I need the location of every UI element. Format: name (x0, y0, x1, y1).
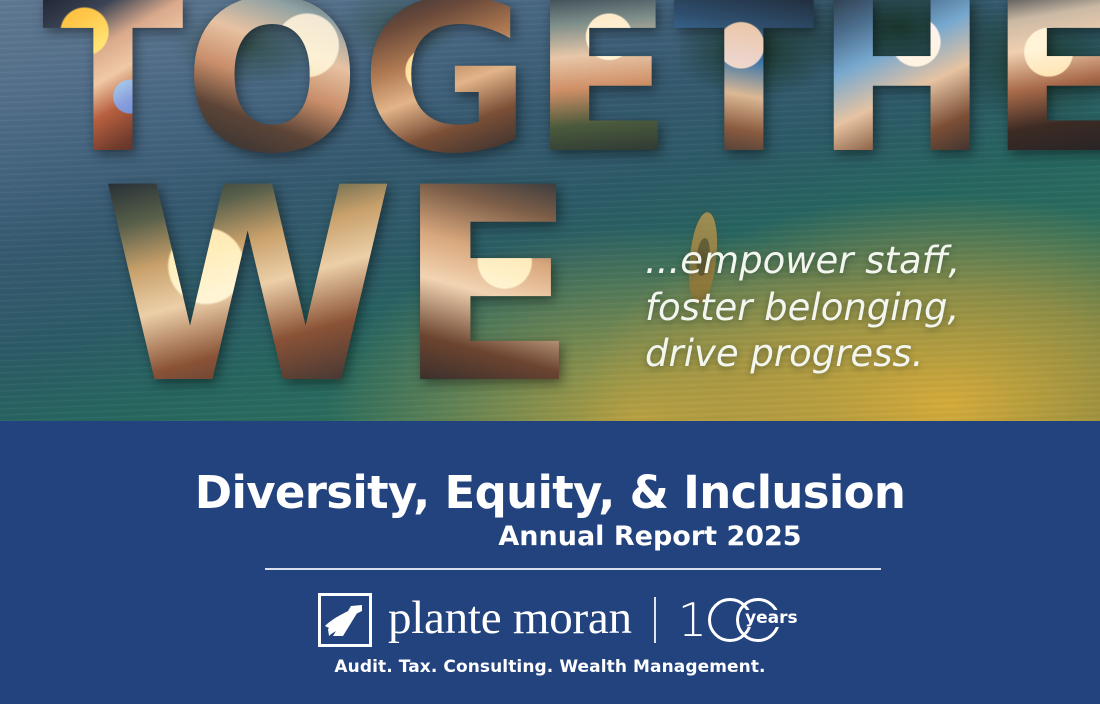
title-panel: Diversity, Equity, & Inclusion Annual Re… (0, 421, 1100, 704)
hero-tagline: ...empower staff, foster belonging, driv… (645, 238, 985, 378)
collage-letter: E (395, 178, 578, 398)
page-title: Diversity, Equity, & Inclusion (0, 466, 1100, 519)
divider-rule (265, 568, 881, 570)
hero-tagline-line: ...empower staff, (645, 238, 985, 285)
report-subtitle: Annual Report 2025 (0, 521, 1100, 552)
brand-logo-lockup: plante moran 1 years (0, 593, 1100, 647)
collage-letter: G (360, 0, 531, 165)
anniversary-mark: 1 years (678, 594, 782, 646)
hero-tagline-line: drive progress. (645, 331, 985, 378)
brand-wordmark: plante moran (388, 595, 632, 646)
collage-letter: T (42, 0, 184, 165)
hero-tagline-line: foster belonging, (645, 285, 985, 332)
hero-photo-band: T O G E T H E R W E ...empower staff, fo… (0, 0, 1100, 421)
logo-separator (654, 597, 656, 643)
headline-word-we: W E (100, 178, 578, 398)
collage-letter: H (815, 0, 989, 165)
report-cover: T O G E T H E R W E ...empower staff, fo… (0, 0, 1100, 704)
collage-letter: E (989, 0, 1100, 165)
anniversary-number: 1 (678, 597, 707, 643)
collage-letter: W (100, 178, 395, 398)
collage-letter: O (184, 0, 361, 165)
headline-word-together: T O G E T H E R (42, 0, 1100, 165)
collage-letter: E (531, 0, 673, 165)
services-tagline: Audit. Tax. Consulting. Wealth Managemen… (0, 657, 1100, 677)
anniversary-label: years (742, 610, 800, 627)
plante-moran-n-mark-icon (318, 593, 372, 647)
anniversary-rings-icon: years (708, 596, 782, 644)
collage-letter: T (673, 0, 815, 165)
